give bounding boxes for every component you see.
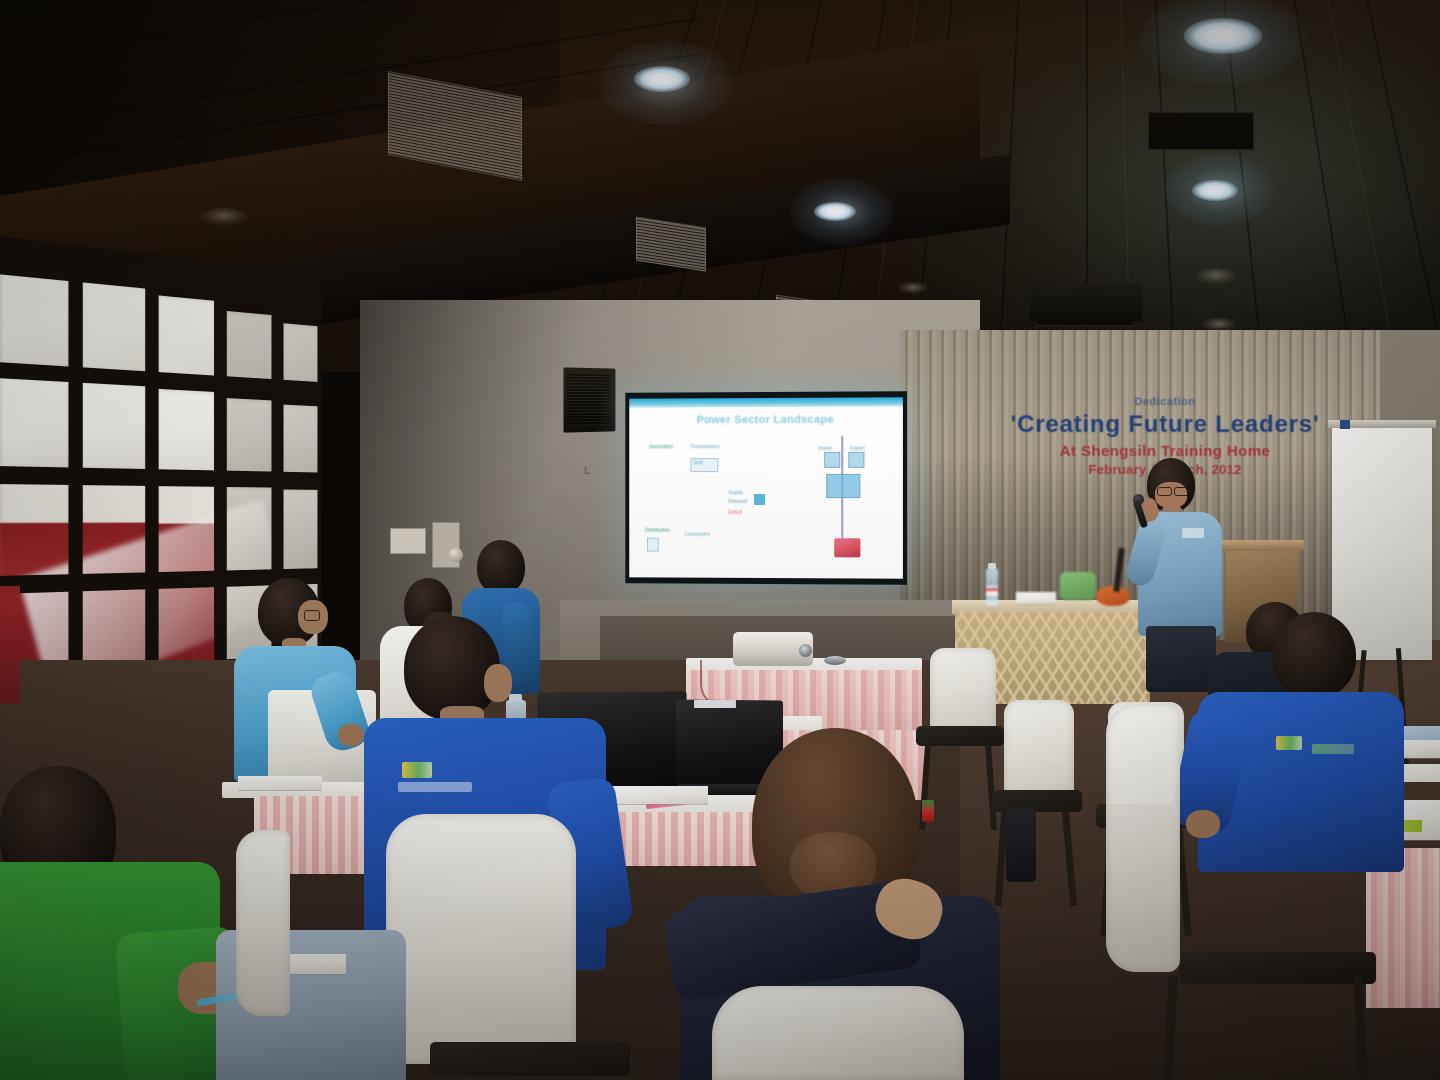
slide-label-import: Import (818, 446, 832, 452)
downlight-4 (814, 202, 856, 221)
door-pane (157, 295, 216, 381)
slide-label-grid: Grid (693, 460, 702, 466)
presenter-pocket (1182, 528, 1204, 538)
attendee-ear-royal (484, 664, 512, 702)
banner-org-line: Dedication (975, 396, 1355, 408)
banner-location: At Shengsiln Training Home (975, 443, 1355, 460)
slide-label-transmission: Transmission (690, 444, 719, 450)
bag-under-chair (1006, 808, 1036, 882)
paper-on-table (612, 786, 708, 804)
empty-chair-seat-2[interactable] (992, 790, 1082, 812)
speaker-grille (567, 373, 610, 426)
slide-node (754, 494, 765, 505)
attendee-head-darkblue (477, 540, 525, 594)
projection-screen: Power Sector Landscape Generation Transm… (625, 391, 907, 585)
presenter-trousers (1146, 626, 1216, 692)
slide-box-import (824, 452, 840, 468)
chair-seat-center[interactable] (430, 1042, 630, 1076)
chair-seat-right-front[interactable] (1180, 952, 1376, 984)
wall-speaker (563, 367, 615, 432)
slide-label-export: Export (850, 446, 865, 452)
flower-arrangement-foliage (1060, 572, 1096, 600)
door-pane (0, 376, 70, 469)
slide-header-bar (629, 397, 903, 407)
slide-funnel (826, 474, 860, 498)
attendee-head-royal (404, 616, 500, 720)
door-pane (157, 389, 216, 474)
slide-label-consumers: Consumers (684, 532, 709, 538)
banner-headline: 'Creating Future Leaders' (975, 411, 1355, 439)
downlight-2 (634, 66, 690, 92)
flip-chart-clip (1340, 420, 1350, 429)
attendee-hand-bluepolo (1186, 810, 1220, 838)
wall-outlet (390, 528, 426, 554)
chair-back-right-front[interactable] (1106, 704, 1180, 972)
ceiling-speaker-panel-upper (1148, 112, 1254, 150)
door-pane (225, 398, 273, 477)
slide-label-distribution: Distribution (645, 528, 670, 534)
flip-chart[interactable] (1332, 424, 1432, 660)
ceiling-ac-unit (1029, 283, 1142, 321)
photo-scene: L (0, 0, 1440, 1080)
downlight-off-9 (898, 282, 928, 294)
shirt-logo-wordmark-royal (398, 782, 472, 792)
table-disc-object (824, 656, 846, 665)
slide-label-demand: Demand (728, 499, 747, 505)
laptop-sticker (694, 700, 736, 708)
door-pane (282, 404, 320, 479)
slide-highlight-block (834, 538, 860, 557)
slide-title: Power Sector Landscape (629, 413, 903, 426)
small-marker-object (922, 800, 934, 822)
wall-marking: L (584, 466, 593, 477)
downlight-off-5 (1196, 268, 1236, 284)
paper-left-table (238, 776, 322, 790)
downlight-3 (1192, 180, 1238, 201)
slide-box-bottom (647, 538, 659, 552)
presenter-glasses-right (1174, 487, 1189, 496)
water-bottle (986, 568, 998, 606)
slide-surface: Power Sector Landscape Generation Transm… (629, 397, 903, 578)
door-pane (81, 280, 147, 373)
door-pane (81, 381, 147, 471)
attendee-glasses-lightblue (304, 610, 320, 621)
slide-label-deficit: Deficit (728, 510, 742, 516)
chair-back-center[interactable] (386, 814, 576, 1064)
downlight-off-7 (200, 208, 248, 225)
slide-label-generation: Generation (649, 444, 673, 450)
shirt-logo-text (1266, 752, 1268, 758)
bottle-cap (988, 563, 996, 569)
attendee-head-bluepolo (1272, 612, 1356, 698)
plate-stack (1016, 592, 1056, 604)
projector-lens (799, 644, 812, 657)
door-pane (0, 272, 70, 368)
red-curtain-sliver (0, 586, 20, 704)
shirt-logo-mark-royal (402, 762, 432, 778)
wall-knob (449, 548, 463, 562)
chair-back-left-edge[interactable] (236, 830, 290, 1016)
empty-chair-back-2[interactable] (1004, 700, 1074, 796)
attendee-hand-lightblue (338, 724, 364, 746)
slide-box-export (848, 452, 864, 468)
podium-top (1220, 540, 1304, 551)
downlight-1 (1184, 18, 1262, 54)
presenter-glasses (1157, 487, 1172, 496)
slide-label-supply: Supply (728, 490, 743, 496)
chair-back-front-center[interactable] (712, 986, 964, 1080)
empty-chair-back-1[interactable] (930, 648, 996, 732)
shirt-logo-wordmark (1312, 744, 1354, 754)
bottle-cap-table (509, 694, 522, 702)
shirt-logo-mark (1276, 736, 1302, 750)
right-table-skirt (1366, 848, 1440, 1008)
door-pane (282, 489, 320, 572)
